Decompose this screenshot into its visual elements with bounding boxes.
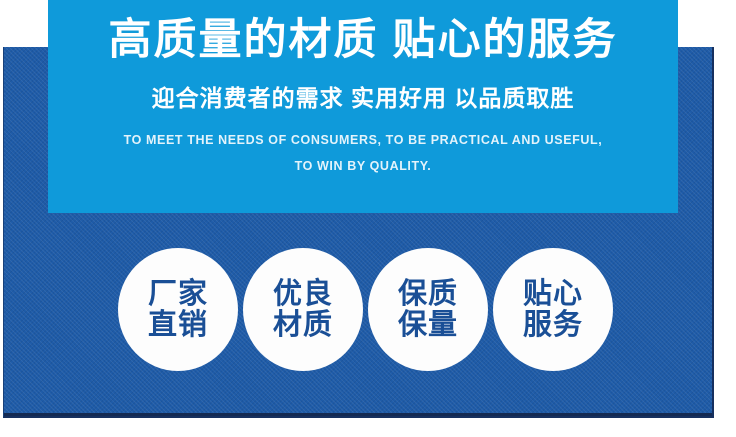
- english-tagline-line-2: TO WIN BY QUALITY.: [48, 154, 678, 180]
- headline-panel: 高质量的材质 贴心的服务 迎合消费者的需求 实用好用 以品质取胜 TO MEET…: [48, 0, 678, 213]
- badge-quality-material: 优良 材质: [243, 248, 363, 371]
- english-tagline: TO MEET THE NEEDS OF CONSUMERS, TO BE PR…: [48, 128, 678, 179]
- english-tagline-line-1: TO MEET THE NEEDS OF CONSUMERS, TO BE PR…: [48, 128, 678, 154]
- badge-guaranteed-quality: 保质 保量: [368, 248, 488, 371]
- badge-label-line-1: 厂家: [148, 279, 208, 310]
- subtitle: 迎合消费者的需求 实用好用 以品质取胜: [48, 86, 678, 111]
- badge-label-line-2: 服务: [523, 310, 583, 341]
- badge-label-line-1: 贴心: [523, 279, 583, 310]
- badge-factory-direct: 厂家 直销: [118, 248, 238, 371]
- badge-label-line-1: 优良: [273, 279, 333, 310]
- page-title: 高质量的材质 贴心的服务: [48, 18, 678, 63]
- badge-row: 厂家 直销 优良 材质 保质 保量 贴心 服务: [0, 248, 736, 374]
- promo-banner: 高质量的材质 贴心的服务 迎合消费者的需求 实用好用 以品质取胜 TO MEET…: [0, 0, 736, 437]
- badge-label-line-2: 保量: [398, 310, 458, 341]
- badge-label-line-1: 保质: [398, 279, 458, 310]
- badge-attentive-service: 贴心 服务: [493, 248, 613, 371]
- badge-label-line-2: 材质: [273, 310, 333, 341]
- badge-label-line-2: 直销: [148, 310, 208, 341]
